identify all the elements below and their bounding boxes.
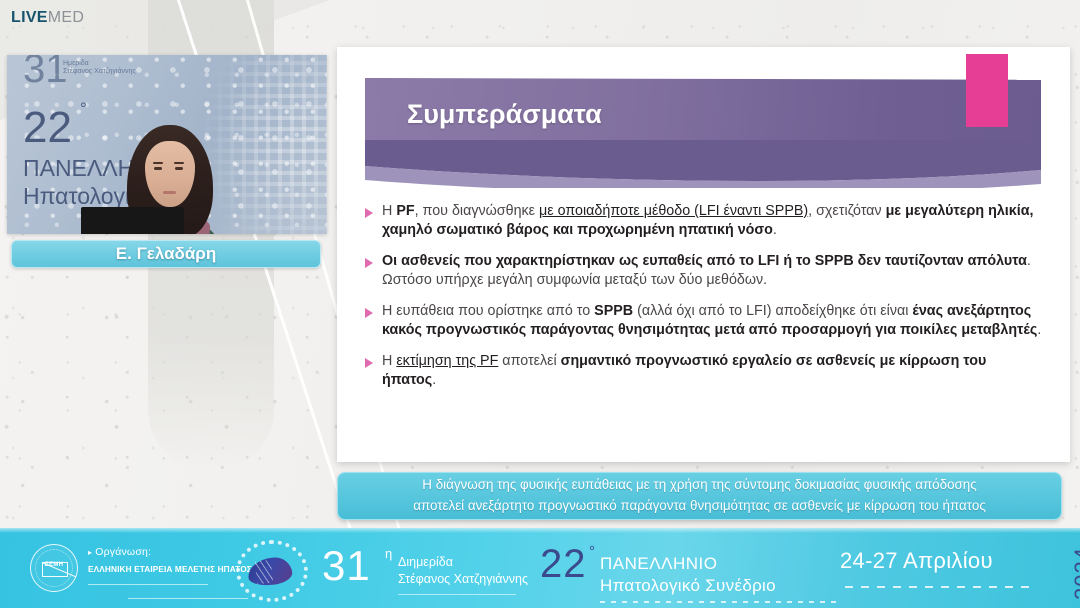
liver-logo-icon	[236, 540, 308, 602]
logo-abbr-text: ΕΕΜΗ	[31, 562, 77, 568]
list-item: Η PF, που διαγνώσθηκε με οποιαδήποτε μέθ…	[365, 202, 1042, 240]
caption-line-1: Η διάγνωση της φυσικής ευπάθειας με τη χ…	[422, 475, 976, 496]
laptop-screen	[81, 207, 184, 234]
backdrop-degree-symbol: °	[80, 99, 87, 119]
logo-live-text: LIVE	[11, 9, 48, 26]
caption-line-2: αποτελεί ανεξάρτητο προγνωστικό παράγοντ…	[413, 496, 986, 517]
list-item: Οι ασθενείς που χαρακτηρίστηκαν ως ευπαθ…	[365, 252, 1042, 290]
session-caption-bar: Η διάγνωση της φυσικής ευπάθειας με τη χ…	[337, 472, 1062, 520]
bullet-text-1: Οι ασθενείς που χαρακτηρίστηκαν ως ευπαθ…	[382, 252, 1042, 290]
congress-number-superscript: °	[589, 543, 595, 560]
arrow-icon: ▸	[88, 548, 92, 557]
speaker-brow-right	[174, 162, 184, 164]
bullet-triangle-icon	[365, 308, 373, 318]
speaker-video-thumbnail[interactable]: 31 Ημερίδα Στέφανος Χατζηγιάννης 22 ° ΠΑ…	[7, 55, 327, 234]
organizer-label: ▸Οργάνωση:	[88, 546, 252, 558]
presentation-slide[interactable]: Συμπεράσματα Η PF, που διαγνώσθηκε με οπ…	[337, 47, 1070, 462]
bullet-triangle-icon	[365, 358, 373, 368]
organizer-block: ▸Οργάνωση: ΕΛΛΗΝΙΚΗ ΕΤΑΙΡΕΙΑ ΜΕΛΕΤΗΣ ΗΠΑ…	[88, 546, 252, 574]
slide-bullet-list: Η PF, που διαγνώσθηκε με οποιαδήποτε μέθ…	[365, 202, 1042, 402]
organizer-label-text: Οργάνωση:	[95, 546, 151, 558]
speaker-name-badge: Ε. Γελαδάρη	[11, 240, 321, 268]
speaker-name-label: Ε. Γελαδάρη	[116, 244, 216, 264]
event-type-rule	[398, 594, 516, 595]
backdrop-event-number: 31	[23, 55, 68, 92]
list-item: Η ευπάθεια που ορίστηκε από το SPPB (αλλ…	[365, 302, 1042, 340]
bullet-triangle-icon	[365, 208, 373, 218]
backdrop-subtitle-1: Ημερίδα	[63, 60, 89, 67]
backdrop-subtitle-2: Στέφανος Χατζηγιάννης	[63, 68, 136, 75]
logo-med-text: MED	[48, 9, 84, 26]
speaker-eye-right	[175, 167, 183, 170]
bullet-triangle-icon	[365, 258, 373, 268]
congress-year: 2024	[1070, 542, 1080, 600]
bullet-text-2: Η ευπάθεια που ορίστηκε από το SPPB (αλλ…	[382, 302, 1042, 340]
slide-pink-accent-block	[966, 54, 1008, 127]
slide-title: Συμπεράσματα	[407, 99, 602, 130]
speaker-eye-left	[154, 167, 162, 170]
conference-footer-banner: ΕΕΜΗ ▸Οργάνωση: ΕΛΛΗΝΙΚΗ ΕΤΑΙΡΕΙΑ ΜΕΛΕΤΗ…	[0, 528, 1080, 608]
organizer-name: ΕΛΛΗΝΙΚΗ ΕΤΑΙΡΕΙΑ ΜΕΛΕΤΗΣ ΗΠΑΤΟΣ	[88, 564, 252, 574]
livemed-logo: LIVEMED	[11, 9, 84, 27]
congress-title-line-2: Ηπατολογικό Συνέδριο	[600, 576, 776, 596]
congress-dates: 24-27 Απριλίου	[840, 548, 993, 574]
organizer-rule-2	[128, 598, 248, 599]
organizer-rule-1	[88, 584, 208, 585]
event-number-superscript: η	[385, 546, 392, 561]
bullet-text-3: Η εκτίμηση της PF αποτελεί σημαντικό προ…	[382, 352, 1042, 390]
event-number: 31	[322, 542, 371, 590]
bullet-text-0: Η PF, που διαγνώσθηκε με οποιαδήποτε μέθ…	[382, 202, 1042, 240]
event-type-line-2: Στέφανος Χατζηγιάννης	[398, 572, 528, 586]
dates-dashed-rule	[845, 586, 1030, 588]
backdrop-congress-number: 22	[23, 103, 72, 153]
event-type-line-1: Διημερίδα	[398, 555, 453, 569]
list-item: Η εκτίμηση της PF αποτελεί σημαντικό προ…	[365, 352, 1042, 390]
congress-title-line-1: ΠΑΝΕΛΛΗΝΙΟ	[600, 554, 717, 574]
speaker-mouth	[163, 191, 176, 194]
eemh-society-logo: ΕΕΜΗ	[30, 544, 78, 592]
slide-title-curve	[365, 140, 1041, 188]
congress-number: 22	[540, 542, 587, 587]
speaker-brow-left	[153, 162, 163, 164]
congress-dotted-rule	[600, 601, 840, 603]
